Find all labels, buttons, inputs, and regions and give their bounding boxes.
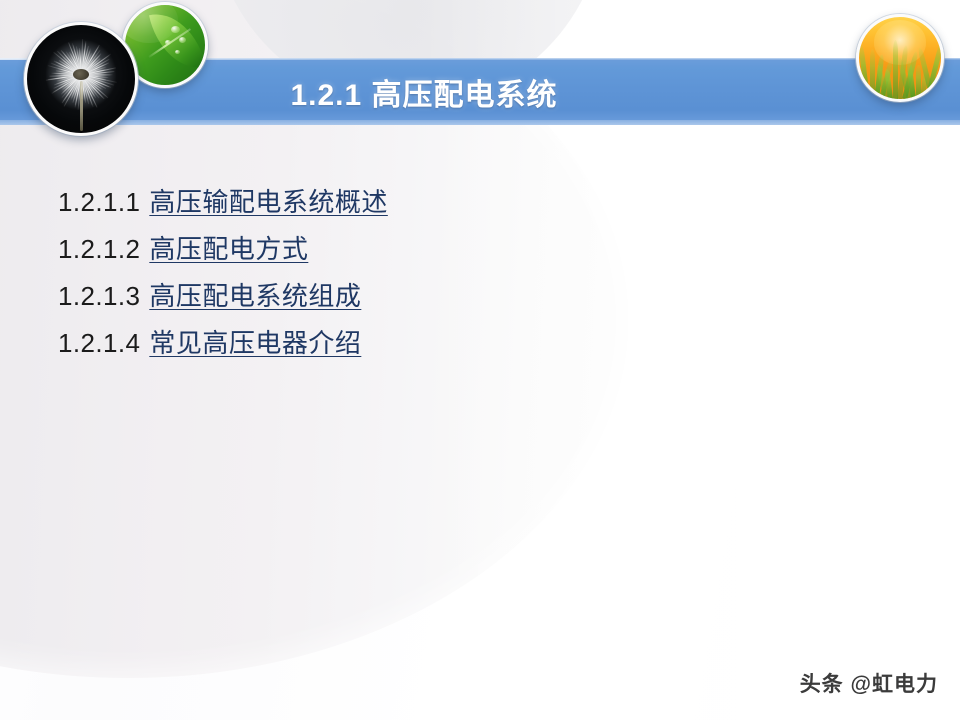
toc-item-link[interactable]: 高压配电系统组成 bbox=[149, 276, 361, 313]
list-item[interactable]: 1.2.1.3 高压配电系统组成 bbox=[58, 276, 698, 323]
toc-list: 1.2.1.1 高压输配电系统概述 1.2.1.2 高压配电方式 1.2.1.3… bbox=[58, 182, 698, 370]
toc-item-number: 1.2.1.3 bbox=[58, 281, 140, 312]
slide-canvas: 1.2.1 高压配电系统 1.2.1.1 高压输配电系统概述 1.2.1.2 高… bbox=[0, 0, 960, 720]
toc-item-number: 1.2.1.2 bbox=[58, 234, 140, 265]
grass-blade-shapes bbox=[859, 38, 941, 99]
dandelion-photo-icon bbox=[24, 22, 138, 136]
sunset-grass-photo-icon bbox=[856, 14, 944, 102]
dandelion-core-shape bbox=[73, 69, 89, 80]
list-item[interactable]: 1.2.1.4 常见高压电器介绍 bbox=[58, 323, 698, 370]
list-item[interactable]: 1.2.1.2 高压配电方式 bbox=[58, 229, 698, 276]
toc-item-number: 1.2.1.4 bbox=[58, 328, 140, 359]
watermark: 头条 @虹电力 bbox=[800, 668, 938, 698]
toc-item-link[interactable]: 常见高压电器介绍 bbox=[149, 323, 361, 360]
toc-item-link[interactable]: 高压配电方式 bbox=[149, 229, 308, 266]
list-item[interactable]: 1.2.1.1 高压输配电系统概述 bbox=[58, 182, 698, 229]
leaf-water-drop-icon bbox=[175, 50, 180, 54]
toc-item-number: 1.2.1.1 bbox=[58, 187, 140, 218]
toc-item-link[interactable]: 高压输配电系统概述 bbox=[149, 182, 388, 219]
